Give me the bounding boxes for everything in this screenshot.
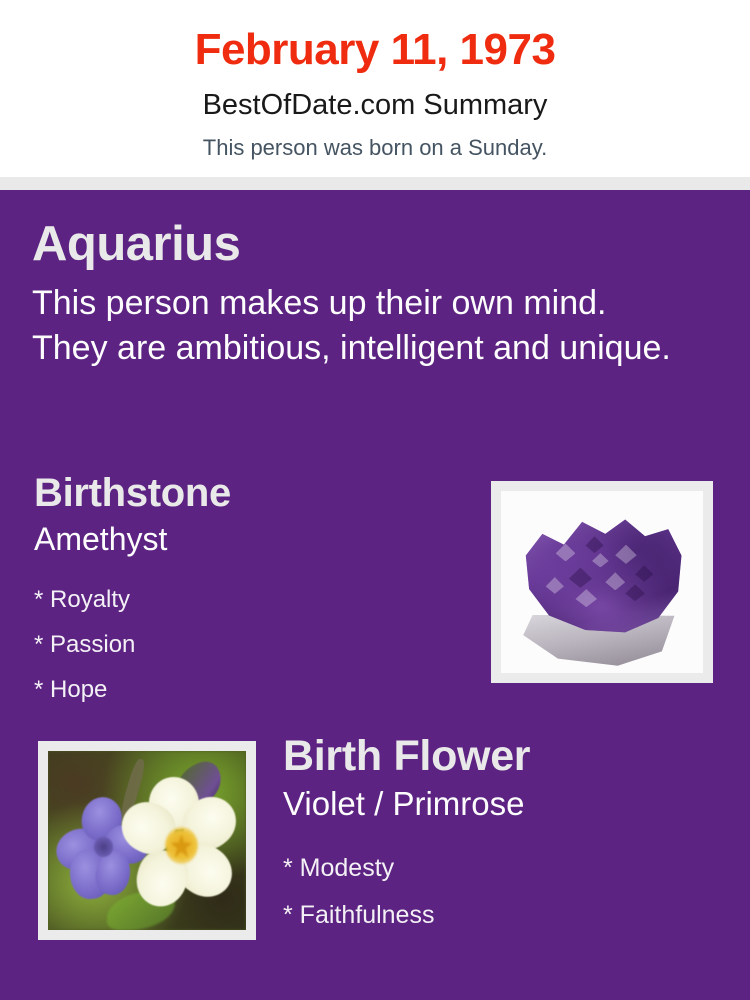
birthflower-section: Birth Flower Violet / Primrose * Modesty…: [283, 735, 713, 928]
birthstone-name: Amethyst: [34, 513, 454, 555]
crystal-facet: [605, 572, 625, 590]
birthstone-section: Birthstone Amethyst * Royalty * Passion …: [34, 473, 454, 702]
crystal-facet: [585, 536, 603, 553]
crystal-facet: [625, 584, 645, 601]
site-name: BestOfDate.com Summary: [0, 72, 750, 120]
crystal-facet: [546, 577, 564, 594]
flower-photo-icon: [48, 751, 246, 930]
crystal-facet: [575, 589, 597, 607]
zodiac-description: This person makes up their own mind. The…: [32, 269, 682, 371]
birth-weekday-note: This person was born on a Sunday.: [0, 120, 750, 159]
header-divider: [0, 177, 750, 190]
crystal-facet: [635, 565, 653, 582]
birthflower-image-frame: [38, 741, 256, 940]
amethyst-crystal-image: [501, 491, 703, 673]
birthflower-name: Violet / Primrose: [283, 778, 713, 820]
list-item: * Passion: [34, 612, 454, 657]
list-item: * Royalty: [34, 567, 454, 612]
crystal-facet: [615, 545, 637, 564]
birthstone-heading: Birthstone: [34, 473, 454, 513]
crystal-facet: [556, 543, 576, 561]
list-item: * Faithfulness: [283, 881, 713, 928]
birthflower-trait-list: * Modesty * Faithfulness: [283, 820, 713, 928]
birthflower-heading: Birth Flower: [283, 735, 713, 778]
list-item: * Hope: [34, 657, 454, 702]
details-panel: Aquarius This person makes up their own …: [0, 190, 750, 1000]
summary-card: February 11, 1973 BestOfDate.com Summary…: [0, 0, 750, 1000]
crystal-facet: [592, 553, 609, 567]
crystal-facet: [569, 568, 592, 588]
birthstone-trait-list: * Royalty * Passion * Hope: [34, 555, 454, 702]
birthstone-image-frame: [491, 481, 713, 683]
zodiac-section: Aquarius This person makes up their own …: [32, 220, 692, 371]
list-item: * Modesty: [283, 834, 713, 881]
page-title: February 11, 1973: [0, 0, 750, 72]
violet-primrose-image: [48, 751, 246, 930]
primrose-flower-icon: [123, 780, 242, 912]
amethyst-icon: [501, 491, 703, 673]
card-header: February 11, 1973 BestOfDate.com Summary…: [0, 0, 750, 177]
zodiac-sign-name: Aquarius: [32, 220, 692, 269]
